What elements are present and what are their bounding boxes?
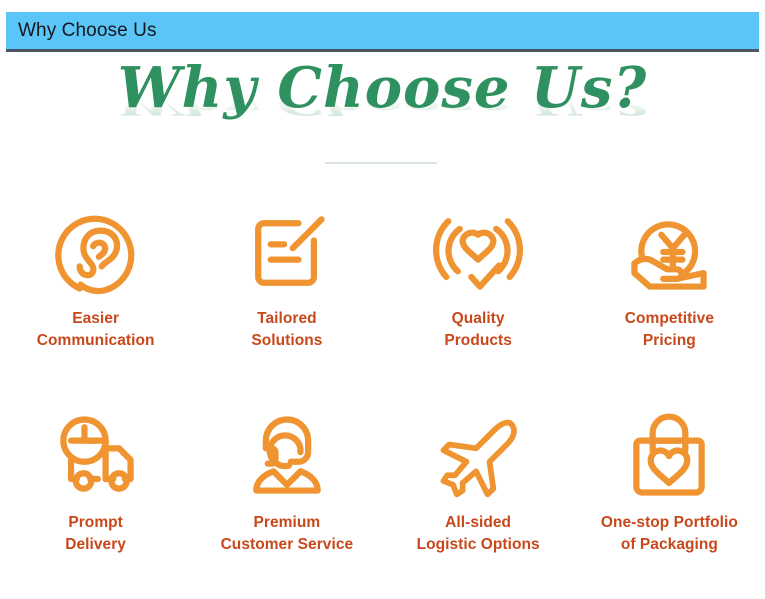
feature-label: Premium Customer Service <box>221 512 354 556</box>
feature-item-quality-products[interactable]: Quality Products <box>383 196 574 386</box>
feature-label-line2: Communication <box>37 330 155 352</box>
feature-item-premium-customer-service[interactable]: Premium Customer Service <box>191 400 382 590</box>
feature-item-tailored-solutions[interactable]: Tailored Solutions <box>191 196 382 386</box>
hero-wordmark-block: Why Choose Us? Why Choose Us? <box>0 60 765 155</box>
feature-label-line1: Competitive <box>625 310 714 327</box>
document-pencil-icon <box>239 196 335 308</box>
feature-label-line2: Delivery <box>65 534 126 556</box>
feature-grid: Easier Communication Tailored Solutions <box>0 196 765 590</box>
ear-listening-icon <box>48 196 144 308</box>
feature-item-competitive-pricing[interactable]: Competitive Pricing <box>574 196 765 386</box>
feature-label-line2: Logistic Options <box>417 534 540 556</box>
feature-label-line1: Prompt <box>68 514 123 531</box>
page-titlebar: Why Choose Us <box>6 12 759 52</box>
feature-label-line2: of Packaging <box>601 534 738 556</box>
feature-label: All-sided Logistic Options <box>417 512 540 556</box>
feature-item-prompt-delivery[interactable]: Prompt Delivery <box>0 400 191 590</box>
hand-yen-coin-icon <box>621 196 717 308</box>
delivery-truck-clock-icon <box>48 400 144 512</box>
airplane-icon <box>430 400 526 512</box>
feature-item-easier-communication[interactable]: Easier Communication <box>0 196 191 386</box>
feature-label-line1: Premium <box>254 514 321 531</box>
feature-label: Quality Products <box>444 308 512 352</box>
shopping-bag-heart-icon <box>621 400 717 512</box>
feature-label-line2: Solutions <box>251 330 322 352</box>
feature-label: Competitive Pricing <box>625 308 714 352</box>
feature-item-one-stop-portfolio[interactable]: One-stop Portfolio of Packaging <box>574 400 765 590</box>
heart-signal-check-icon <box>430 196 526 308</box>
feature-label-line2: Products <box>444 330 512 352</box>
feature-label-line1: Easier <box>72 310 119 327</box>
feature-label-line2: Customer Service <box>221 534 354 556</box>
feature-label: Easier Communication <box>37 308 155 352</box>
why-choose-us-page: Why Choose Us Why Choose Us? Why Choose … <box>0 0 765 599</box>
feature-item-all-sided-logistic-options[interactable]: All-sided Logistic Options <box>383 400 574 590</box>
feature-label-line1: Quality <box>452 310 505 327</box>
feature-label-line1: One-stop Portfolio <box>601 514 738 531</box>
hero-wordmark-reflection: Why Choose Us? <box>118 93 647 118</box>
headset-agent-icon <box>239 400 335 512</box>
page-title: Why Choose Us <box>6 20 157 42</box>
feature-label-line2: Pricing <box>625 330 714 352</box>
feature-label: Tailored Solutions <box>251 308 322 352</box>
feature-label-line1: All-sided <box>445 514 511 531</box>
feature-label: Prompt Delivery <box>65 512 126 556</box>
feature-label-line1: Tailored <box>257 310 317 327</box>
feature-label: One-stop Portfolio of Packaging <box>601 512 738 556</box>
hero-divider <box>325 162 437 164</box>
